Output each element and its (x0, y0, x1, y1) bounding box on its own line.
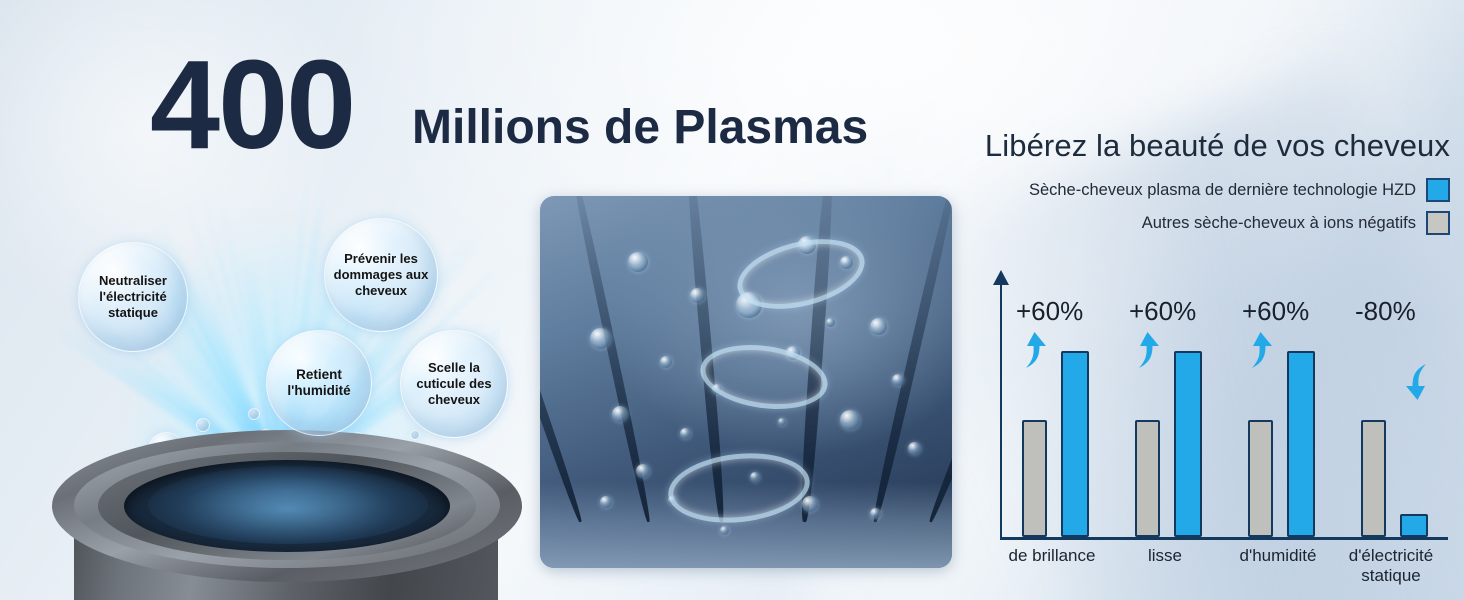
micro-bubble (248, 408, 260, 420)
bubble-label: Prévenir les dommages aux cheveux (325, 251, 437, 299)
water-droplet (590, 328, 611, 349)
bar-plasma-2 (1287, 351, 1315, 538)
trend-arrow-up-icon (1018, 330, 1048, 370)
headline-text: Millions de Plasmas (412, 100, 868, 155)
water-droplet (870, 508, 881, 519)
bar-others-0 (1022, 420, 1047, 537)
bar-value-label: +60% (1016, 296, 1083, 327)
water-droplet (612, 406, 628, 422)
water-droplet (778, 418, 786, 426)
promo-banner: Neutraliser l'électricité statiquePréven… (0, 0, 1464, 600)
hair-strand (540, 196, 585, 523)
bar-plasma-3 (1400, 514, 1428, 537)
bar-others-1 (1135, 420, 1160, 537)
dryer-outlet-glow (148, 466, 428, 544)
legend-swatch-others (1426, 211, 1450, 235)
bubble-prevent-damage: Prévenir les dommages aux cheveux (324, 218, 438, 332)
water-droplet (628, 252, 648, 272)
x-axis-category-label: lisse (1105, 546, 1225, 566)
bar-value-label: -80% (1355, 296, 1416, 327)
bar-value-label: +60% (1242, 296, 1309, 327)
water-droplet (720, 526, 729, 535)
hair-closeup-photo (540, 196, 952, 568)
bar-plasma-0 (1061, 351, 1089, 538)
legend-label-others: Autres sèche-cheveux à ions négatifs (1142, 214, 1416, 233)
trend-arrow-up-icon (1131, 330, 1161, 370)
legend-label-plasma: Sèche-cheveux plasma de dernière technol… (1029, 181, 1416, 200)
bubble-retains-moisture: Retient l'humidité (266, 330, 372, 436)
water-droplet (690, 288, 705, 303)
trend-arrow-down-icon (1404, 362, 1434, 402)
water-droplet (600, 496, 612, 508)
headline-number: 400 (150, 42, 354, 168)
water-droplet (826, 318, 835, 327)
chart-panel: Libérez la beauté de vos cheveux Sèche-c… (930, 0, 1464, 600)
legend-item-others: Autres sèche-cheveux à ions négatifs (1142, 211, 1450, 235)
bar-others-3 (1361, 420, 1386, 537)
comparison-bar-chart: +60%de brillance+60%lisse+60%d'humidité-… (980, 270, 1450, 600)
bubble-seals-cuticle: Scelle la cuticule des cheveux (400, 330, 508, 438)
water-droplet (870, 318, 887, 335)
water-droplet (908, 442, 921, 455)
water-droplet (802, 496, 818, 512)
x-axis-category-label: d'électricité statique (1331, 546, 1451, 585)
water-droplet (636, 464, 650, 478)
bar-value-label: +60% (1129, 296, 1196, 327)
legend-item-plasma: Sèche-cheveux plasma de dernière technol… (1029, 178, 1450, 202)
trend-arrow-up-icon (1244, 330, 1274, 370)
y-axis-line (1000, 278, 1002, 540)
x-axis-category-label: de brillance (992, 546, 1112, 566)
water-droplet (840, 410, 860, 430)
x-axis-category-label: d'humidité (1218, 546, 1338, 566)
bar-others-2 (1248, 420, 1273, 537)
water-droplet (660, 356, 672, 368)
bubble-neutralize-static: Neutraliser l'électricité statique (78, 242, 188, 352)
bubble-label: Retient l'humidité (267, 367, 371, 400)
bar-plasma-1 (1174, 351, 1202, 538)
legend-swatch-plasma (1426, 178, 1450, 202)
headline: 400 Millions de Plasmas (150, 56, 930, 166)
water-droplet (892, 374, 904, 386)
hair-dryer-nozzle (52, 430, 522, 600)
panel-subheading: Libérez la beauté de vos cheveux (930, 128, 1450, 164)
x-axis-line (1000, 537, 1448, 540)
water-droplet (680, 428, 691, 439)
bubble-label: Neutraliser l'électricité statique (79, 273, 187, 321)
bubble-label: Scelle la cuticule des cheveux (401, 360, 507, 408)
